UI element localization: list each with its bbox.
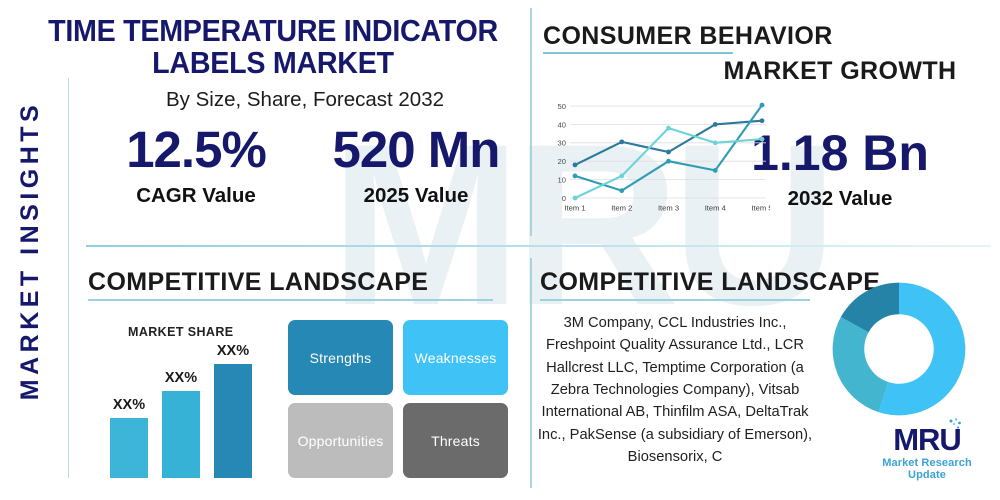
divider-vertical-middle-top [530,8,532,236]
company-list: 3M Company, CCL Industries Inc., Freshpo… [534,312,816,468]
svg-text:Item 2: Item 2 [611,204,632,213]
bar-column: XX% [214,318,252,478]
stat-cagr-value: 12.5% [86,124,306,175]
swot-grid: StrengthsWeaknessesOpportunitiesThreats [288,320,508,478]
stat-2025-value: 520 Mn [306,124,526,175]
swot-cell-opportunities[interactable]: Opportunities [288,403,393,478]
bar-value-label: XX% [153,370,209,386]
bar-rect [214,364,252,478]
svg-text:40: 40 [558,120,566,129]
section-heading-market-growth: MARKET GROWTH [700,57,980,86]
swot-cell-weaknesses[interactable]: Weaknesses [403,320,508,395]
logo-mark: MRU [893,424,961,455]
section-heading-consumer-behavior: CONSUMER BEHAVIOR [543,22,833,51]
bar-value-label: XX% [205,343,261,359]
logo-tagline: Market Research Update [862,457,992,481]
svg-text:Item 1: Item 1 [564,204,585,213]
heading-rule-competitive-right [540,299,810,301]
bar-rect [162,391,200,478]
svg-text:20: 20 [558,157,566,166]
svg-text:Item 4: Item 4 [705,204,726,213]
swot-cell-strengths[interactable]: Strengths [288,320,393,395]
bar-column: XX% [110,318,148,478]
donut-chart-market-split [820,270,978,428]
headline-stats: 12.5% CAGR Value 520 Mn 2025 Value [86,124,526,208]
stat-cagr-caption: CAGR Value [86,184,306,208]
svg-text:Item 3: Item 3 [658,204,679,213]
svg-text:10: 10 [558,176,566,185]
page-title: TIME TEMPERATURE INDICATOR LABELS MARKET [43,16,504,79]
droplets-icon [947,417,963,433]
swot-cell-threats[interactable]: Threats [403,403,508,478]
section-heading-competitive-landscape-left: COMPETITIVE LANDSCAPE [88,268,428,297]
divider-horizontal [86,245,991,247]
stat-2025: 520 Mn 2025 Value [306,124,526,208]
brand-logo: MRU Market Research Update [862,424,992,481]
svg-text:Item 5: Item 5 [751,204,770,213]
divider-vertical-middle-bottom [530,258,532,488]
divider-vertical-left [68,78,69,478]
heading-rule-consumer-behavior [543,52,733,54]
stat-cagr: 12.5% CAGR Value [86,124,306,208]
stat-2025-caption: 2025 Value [306,184,526,208]
infographic-root: MRU MARKET INSIGHTS TIME TEMPERATURE IND… [0,0,1000,500]
svg-text:50: 50 [558,102,566,111]
line-chart-consumer-behavior: 50403020100Item 1Item 2Item 3Item 4Item … [545,100,770,218]
side-label-text: MARKET INSIGHTS [17,100,46,399]
bar-column: XX% [162,318,200,478]
page-subtitle: By Size, Share, Forecast 2032 [90,88,520,112]
svg-text:30: 30 [558,139,566,148]
bar-chart-market-share: XX%XX%XX% [100,318,280,478]
bar-value-label: XX% [101,397,157,413]
bar-rect [110,418,148,478]
svg-text:0: 0 [562,194,566,203]
heading-rule-competitive-left [88,299,493,301]
